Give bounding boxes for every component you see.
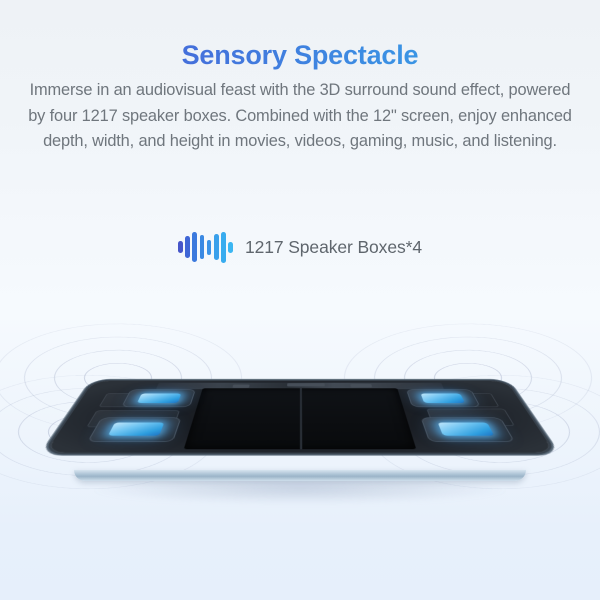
description-text: Immerse in an audiovisual feast with the… bbox=[22, 78, 578, 155]
promo-page: Sensory Spectacle Immerse in an audiovis… bbox=[0, 0, 600, 600]
audio-waveform-icon bbox=[178, 230, 233, 264]
speaker-top-right bbox=[406, 389, 481, 407]
feature-badge: 1217 Speaker Boxes*4 bbox=[0, 230, 600, 264]
board-chip bbox=[287, 383, 325, 386]
waveform-bar bbox=[185, 236, 190, 258]
battery-module bbox=[184, 388, 416, 449]
tablet-internals bbox=[45, 381, 554, 453]
waveform-bar bbox=[221, 232, 226, 263]
tablet-device bbox=[45, 381, 554, 453]
board-chip bbox=[350, 384, 372, 387]
internal-plate bbox=[426, 409, 515, 426]
waveform-bar bbox=[178, 241, 183, 253]
waveform-bar bbox=[200, 235, 205, 259]
speaker-bottom-left bbox=[87, 417, 182, 442]
page-title: Sensory Spectacle bbox=[0, 40, 600, 71]
feature-label: 1217 Speaker Boxes*4 bbox=[245, 237, 422, 258]
speaker-glow bbox=[421, 393, 466, 402]
speaker-bottom-right bbox=[420, 417, 515, 442]
waveform-bar bbox=[228, 242, 233, 253]
tablet-front-edge bbox=[74, 470, 526, 481]
product-shadow bbox=[92, 478, 508, 504]
waveform-bar bbox=[207, 240, 212, 255]
waveform-bar bbox=[192, 232, 197, 262]
waveform-bar bbox=[214, 234, 219, 260]
product-scene bbox=[0, 320, 600, 550]
internal-plate bbox=[86, 410, 180, 427]
speaker-glow bbox=[438, 423, 494, 436]
speaker-glow bbox=[107, 423, 163, 436]
board-chip bbox=[232, 384, 249, 387]
speaker-glow bbox=[137, 393, 182, 402]
speaker-top-left bbox=[121, 389, 196, 407]
